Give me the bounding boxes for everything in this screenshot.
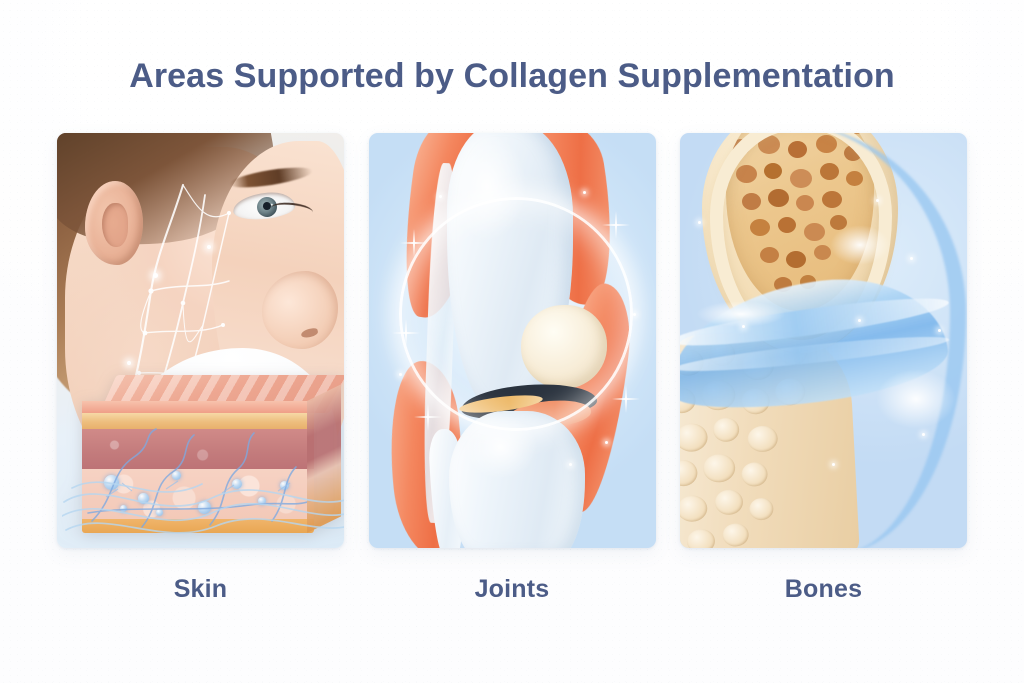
card-joints[interactable]: Joints (369, 133, 656, 611)
sparkle-star-icon (413, 229, 415, 257)
gleam-highlight (876, 369, 956, 429)
sparkle-icon (153, 273, 158, 278)
card-caption-bones: Bones (785, 575, 862, 604)
collagen-glow-ring (399, 197, 633, 431)
sparkle-icon (698, 221, 701, 224)
sparkle-icon (633, 313, 636, 316)
gleam-highlight (830, 225, 890, 265)
sparkle-icon (938, 329, 941, 332)
card-row: Skin (57, 133, 967, 611)
bones-illustration (680, 133, 967, 548)
card-skin[interactable]: Skin (57, 133, 344, 611)
sparkle-icon (399, 373, 402, 376)
gleam-highlight (696, 301, 786, 327)
sparkle-icon (858, 319, 861, 322)
page-title: Areas Supported by Collagen Supplementat… (0, 56, 1024, 97)
card-caption-joints: Joints (475, 575, 550, 604)
sparkle-star-icon (405, 319, 407, 347)
sparkle-icon (910, 257, 913, 260)
sparkle-icon (605, 441, 608, 444)
sparkle-icon (832, 463, 835, 466)
bone-tibia (449, 411, 585, 548)
water-swirl-svg (62, 454, 344, 546)
joints-illustration (369, 133, 656, 548)
sparkle-icon (922, 433, 925, 436)
sparkle-icon (583, 191, 586, 194)
sparkle-icon (207, 245, 211, 249)
sparkle-star-icon (615, 211, 617, 239)
sparkle-star-icon (625, 385, 627, 413)
card-bones[interactable]: Bones (680, 133, 967, 611)
collagen-infographic: Areas Supported by Collagen Supplementat… (0, 0, 1024, 683)
sparkle-star-icon (427, 403, 429, 431)
sparkle-icon (569, 463, 572, 466)
sparkle-icon (742, 325, 745, 328)
card-caption-skin: Skin (174, 575, 228, 604)
sparkle-icon (127, 361, 131, 365)
skin-cross-section-diagram (82, 375, 340, 540)
skin-illustration (57, 133, 344, 548)
sparkle-icon (876, 199, 879, 202)
sparkle-icon (439, 195, 442, 198)
